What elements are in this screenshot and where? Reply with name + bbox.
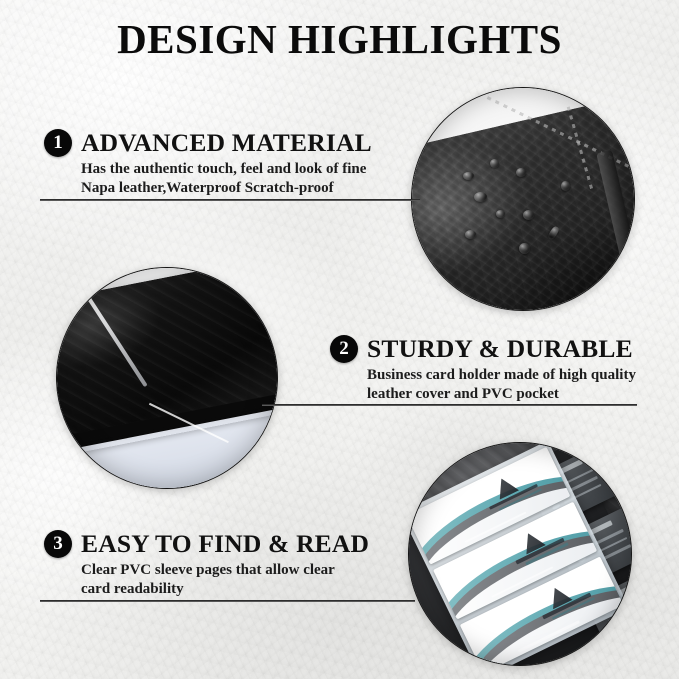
section-2-body: Business card holder made of high qualit… bbox=[367, 366, 636, 403]
water-droplet bbox=[561, 181, 570, 191]
water-droplet bbox=[519, 243, 530, 254]
section-3-heading: EASY TO FIND & READ bbox=[81, 529, 369, 559]
section-1: 1 ADVANCED MATERIAL Has the authentic to… bbox=[44, 128, 372, 197]
section-3-body-line-2: card readability bbox=[81, 580, 369, 599]
infographic-page: DESIGN HIGHLIGHTS 1 ADVANCED MATERIAL Ha… bbox=[0, 0, 679, 679]
section-2-heading-row: 2 STURDY & DURABLE bbox=[330, 334, 636, 364]
section-1-body-line-2: Napa leather,Waterproof Scratch-proof bbox=[81, 179, 372, 198]
section-1-heading-row: 1 ADVANCED MATERIAL bbox=[44, 128, 372, 158]
section-3-photo bbox=[408, 442, 632, 666]
section-2: 2 STURDY & DURABLE Business card holder … bbox=[330, 334, 636, 403]
section-3-number-badge: 3 bbox=[44, 530, 72, 558]
section-2-heading: STURDY & DURABLE bbox=[367, 334, 633, 364]
section-1-photo bbox=[411, 87, 635, 311]
section-3-connector-rule bbox=[40, 600, 415, 602]
section-3: 3 EASY TO FIND & READ Clear PVC sleeve p… bbox=[44, 529, 369, 598]
page-title: DESIGN HIGHLIGHTS bbox=[0, 17, 679, 62]
section-2-number-badge: 2 bbox=[330, 335, 358, 363]
section-3-heading-row: 3 EASY TO FIND & READ bbox=[44, 529, 369, 559]
section-3-body: Clear PVC sleeve pages that allow clear … bbox=[81, 561, 369, 598]
section-2-connector-rule bbox=[262, 404, 637, 406]
section-2-body-line-2: leather cover and PVC pocket bbox=[367, 385, 636, 404]
section-2-photo-inner bbox=[57, 268, 277, 488]
section-1-heading: ADVANCED MATERIAL bbox=[81, 128, 372, 158]
water-droplet bbox=[490, 159, 499, 168]
section-1-photo-inner bbox=[412, 88, 634, 310]
section-3-body-line-1: Clear PVC sleeve pages that allow clear bbox=[81, 561, 369, 580]
section-1-number-badge: 1 bbox=[44, 129, 72, 157]
section-3-photo-inner bbox=[409, 443, 631, 665]
section-1-body-line-1: Has the authentic touch, feel and look o… bbox=[81, 160, 372, 179]
section-2-body-line-1: Business card holder made of high qualit… bbox=[367, 366, 636, 385]
section-1-connector-rule bbox=[40, 199, 420, 201]
section-2-photo bbox=[56, 267, 278, 489]
section-1-body: Has the authentic touch, feel and look o… bbox=[81, 160, 372, 197]
